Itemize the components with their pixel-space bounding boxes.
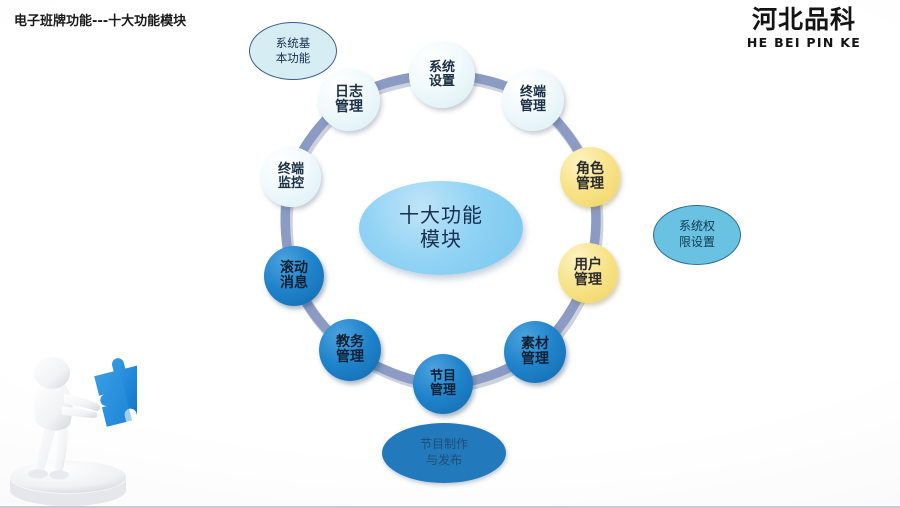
node-user-manage[interactable]: 用户 管理 <box>558 243 618 303</box>
slide-canvas: 电子班牌功能---十大功能模块 河北品科 HE BEI PIN KE 系统 设置… <box>0 0 900 508</box>
callout-label: 节目制作 与发布 <box>420 437 468 468</box>
node-role-manage[interactable]: 角色 管理 <box>560 147 620 207</box>
node-label: 日志 管理 <box>335 85 363 115</box>
node-log-manage[interactable]: 日志 管理 <box>318 69 380 131</box>
callout-program-publish[interactable]: 节目制作 与发布 <box>382 423 506 483</box>
node-label: 节目 管理 <box>430 370 456 398</box>
callout-basic-functions[interactable]: 系统基 本功能 <box>249 22 337 80</box>
node-scrolling-message[interactable]: 滚动 消息 <box>264 246 324 306</box>
node-label: 教务 管理 <box>336 335 364 365</box>
node-label: 终端 管理 <box>520 86 546 114</box>
node-label: 用户 管理 <box>574 258 602 288</box>
callout-label: 系统权 限设置 <box>679 219 715 250</box>
center-label: 十大功能 模块 <box>399 204 483 251</box>
node-label: 素材 管理 <box>521 337 549 367</box>
node-label: 终端 监控 <box>278 163 304 191</box>
node-terminal-manage[interactable]: 终端 管理 <box>502 69 564 131</box>
node-label: 角色 管理 <box>576 162 604 192</box>
node-label: 滚动 消息 <box>280 261 308 291</box>
node-material-manage[interactable]: 素材 管理 <box>504 321 566 383</box>
node-terminal-monitor[interactable]: 终端 监控 <box>261 147 321 207</box>
node-program-manage[interactable]: 节目 管理 <box>413 354 473 414</box>
node-label: 系统 设置 <box>429 61 455 89</box>
figure-with-puzzle-piece-icon <box>2 344 137 508</box>
node-system-settings[interactable]: 系统 设置 <box>409 42 475 108</box>
center-ellipse: 十大功能 模块 <box>359 181 523 275</box>
callout-label: 系统基 本功能 <box>276 36 311 66</box>
callout-permission-setting[interactable]: 系统权 限设置 <box>653 205 741 265</box>
node-academic-manage[interactable]: 教务 管理 <box>319 319 381 381</box>
